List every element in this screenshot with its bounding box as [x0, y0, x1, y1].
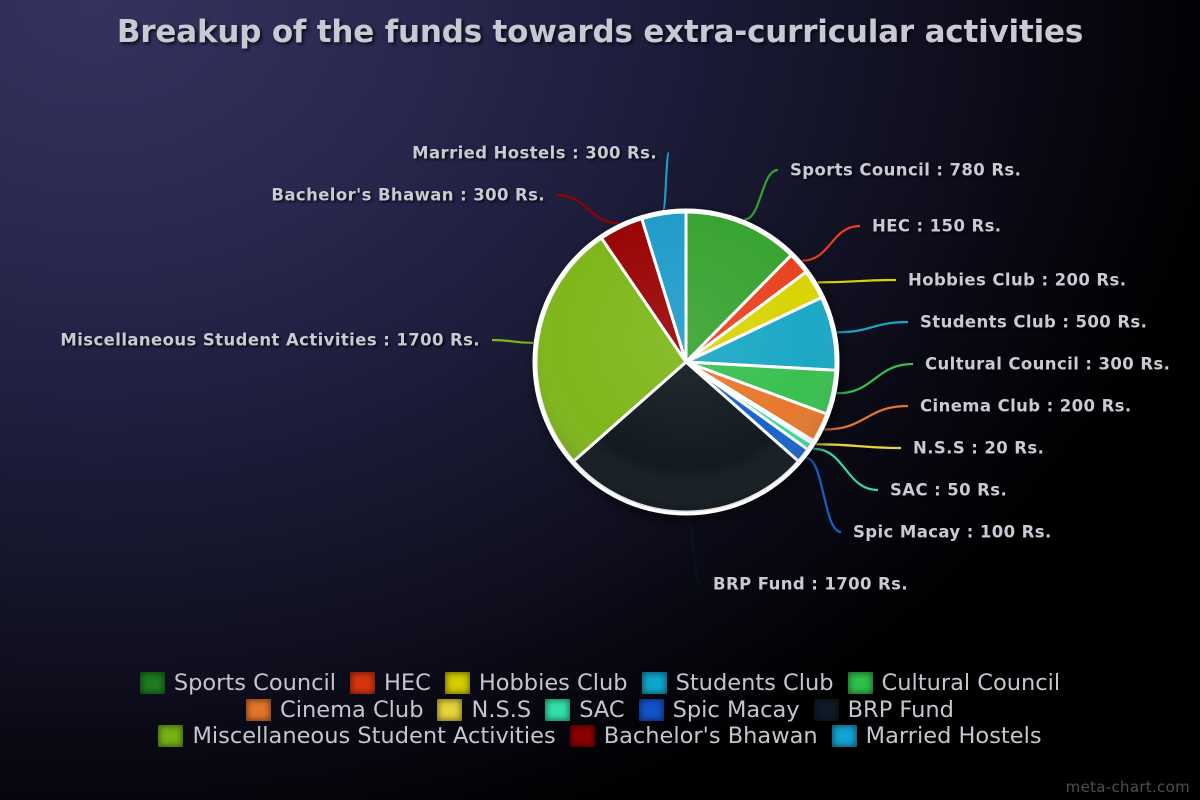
pie-slices: Sports Council : 780 Rs.HEC : 150 Rs.Hob… — [533, 209, 840, 516]
legend-label: Bachelor's Bhawan — [604, 725, 818, 748]
callout-cultural-council: Cultural Council : 300 Rs. — [925, 355, 1170, 374]
callout-married-hostels: Married Hostels : 300 Rs. — [412, 144, 657, 163]
legend-label: Cultural Council — [882, 672, 1061, 695]
legend-label: Miscellaneous Student Activities — [192, 725, 555, 748]
legend-item-students-club[interactable]: Students Club — [642, 672, 834, 695]
leader-line-cultural-council — [837, 364, 913, 393]
callout-hec: HEC : 150 Rs. — [872, 217, 1001, 236]
legend-item-spic-macay[interactable]: Spic Macay — [639, 699, 800, 722]
legend-swatch — [639, 699, 664, 721]
legend-label: Students Club — [676, 672, 834, 695]
legend-item-sac[interactable]: SAC — [545, 699, 624, 722]
leader-line-cinema-club — [824, 406, 908, 430]
legend-label: SAC — [579, 699, 624, 722]
legend-swatch — [246, 699, 271, 721]
legend-item-miscellaneous-student-activities[interactable]: Miscellaneous Student Activities — [158, 725, 555, 748]
legend-item-sports-council[interactable]: Sports Council — [140, 672, 336, 695]
callout-brp-fund: BRP Fund : 1700 Rs. — [713, 575, 908, 594]
leader-line-sports-council — [744, 170, 778, 220]
legend-swatch — [437, 699, 462, 721]
callout-sac: SAC : 50 Rs. — [890, 481, 1007, 500]
legend-item-cultural-council[interactable]: Cultural Council — [848, 672, 1061, 695]
legend-item-hec[interactable]: HEC — [350, 672, 431, 695]
legend-swatch — [545, 699, 570, 721]
legend-label: Sports Council — [174, 672, 336, 695]
legend-row: Miscellaneous Student ActivitiesBachelor… — [158, 725, 1041, 748]
legend-item-cinema-club[interactable]: Cinema Club — [246, 699, 423, 722]
legend-swatch — [350, 672, 375, 694]
callout-cinema-club: Cinema Club : 200 Rs. — [920, 397, 1132, 416]
chart-canvas: Breakup of the funds towards extra-curri… — [0, 0, 1200, 800]
leader-line-sac — [813, 449, 878, 490]
leader-line-hec — [802, 226, 860, 261]
legend-swatch — [848, 672, 873, 694]
legend-swatch — [445, 672, 470, 694]
legend-label: Spic Macay — [673, 699, 800, 722]
chart-legend: Sports CouncilHECHobbies ClubStudents Cl… — [0, 672, 1200, 748]
legend-swatch — [832, 725, 857, 747]
legend-item-hobbies-club[interactable]: Hobbies Club — [445, 672, 628, 695]
leader-line-miscellaneous — [492, 340, 533, 343]
legend-label: BRP Fund — [848, 699, 954, 722]
leader-line-bachelors-bhawan — [557, 195, 619, 223]
legend-swatch — [570, 725, 595, 747]
legend-swatch — [642, 672, 667, 694]
leader-line-brp-fund — [686, 516, 701, 584]
leader-line-married-hostels — [663, 153, 669, 210]
legend-item-brp-fund[interactable]: BRP Fund — [814, 699, 954, 722]
callout-nss: N.S.S : 20 Rs. — [913, 439, 1044, 458]
callout-spic-macay: Spic Macay : 100 Rs. — [853, 523, 1052, 542]
legend-swatch — [140, 672, 165, 694]
legend-label: Married Hostels — [866, 725, 1042, 748]
legend-label: Hobbies Club — [479, 672, 628, 695]
callout-students-club: Students Club : 500 Rs. — [920, 313, 1147, 332]
legend-row: Cinema ClubN.S.SSACSpic MacayBRP Fund — [246, 699, 954, 722]
legend-label: Cinema Club — [280, 699, 423, 722]
legend-item-n-s-s[interactable]: N.S.S — [437, 699, 531, 722]
legend-swatch — [814, 699, 839, 721]
leader-line-nss — [816, 444, 901, 448]
leader-line-students-club — [837, 322, 908, 332]
legend-item-bachelor-s-bhawan[interactable]: Bachelor's Bhawan — [570, 725, 818, 748]
legend-item-married-hostels[interactable]: Married Hostels — [832, 725, 1042, 748]
leader-line-spic-macay — [806, 458, 841, 532]
callout-miscellaneous: Miscellaneous Student Activities : 1700 … — [60, 331, 480, 350]
callout-hobbies-club: Hobbies Club : 200 Rs. — [908, 271, 1126, 290]
watermark: meta-chart.com — [1066, 778, 1190, 796]
callout-sports-council: Sports Council : 780 Rs. — [790, 161, 1021, 180]
callout-bachelors-bhawan: Bachelor's Bhawan : 300 Rs. — [271, 186, 545, 205]
legend-label: N.S.S — [471, 699, 531, 722]
legend-label: HEC — [384, 672, 431, 695]
legend-swatch — [158, 725, 183, 747]
legend-row: Sports CouncilHECHobbies ClubStudents Cl… — [140, 672, 1060, 695]
leader-line-hobbies-club — [818, 280, 896, 282]
